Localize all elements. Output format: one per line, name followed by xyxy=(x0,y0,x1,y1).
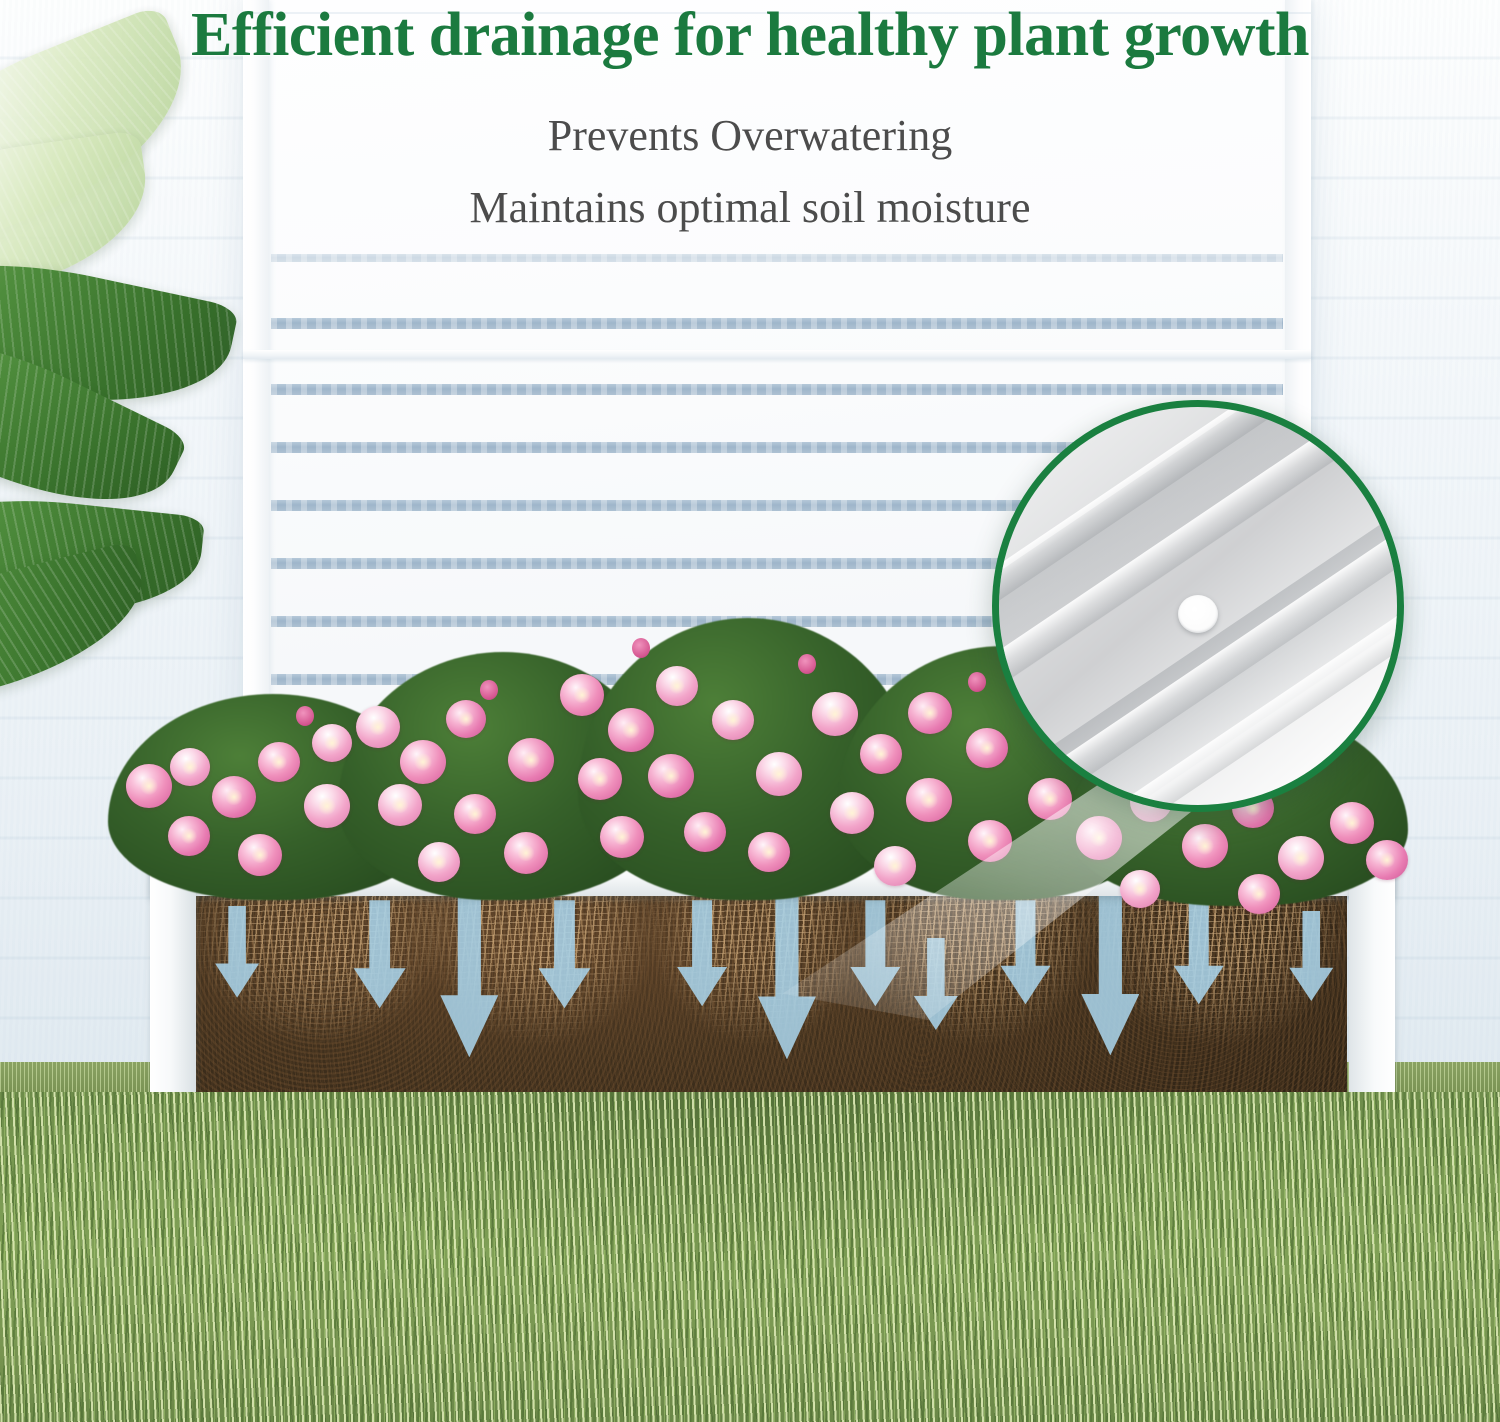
fence-slat-gap-1 xyxy=(271,254,1283,262)
fence-slat-gap-2 xyxy=(271,318,1283,329)
subheading-prevents-overwatering: Prevents Overwatering xyxy=(0,110,1500,161)
product-infographic: Efficient drainage for healthy plant gro… xyxy=(0,0,1500,1422)
fence-mid-rail xyxy=(243,350,1311,359)
drainage-hole xyxy=(1178,595,1218,633)
subheading-soil-moisture: Maintains optimal soil moisture xyxy=(0,182,1500,233)
fence-slat-gap-3 xyxy=(271,384,1283,395)
grass-blades xyxy=(0,1092,1500,1422)
planter-top-rim xyxy=(150,862,1395,896)
drainage-hole-magnifier xyxy=(992,400,1404,812)
page-title: Efficient drainage for healthy plant gro… xyxy=(0,4,1500,67)
foreground-lawn xyxy=(0,1092,1500,1422)
